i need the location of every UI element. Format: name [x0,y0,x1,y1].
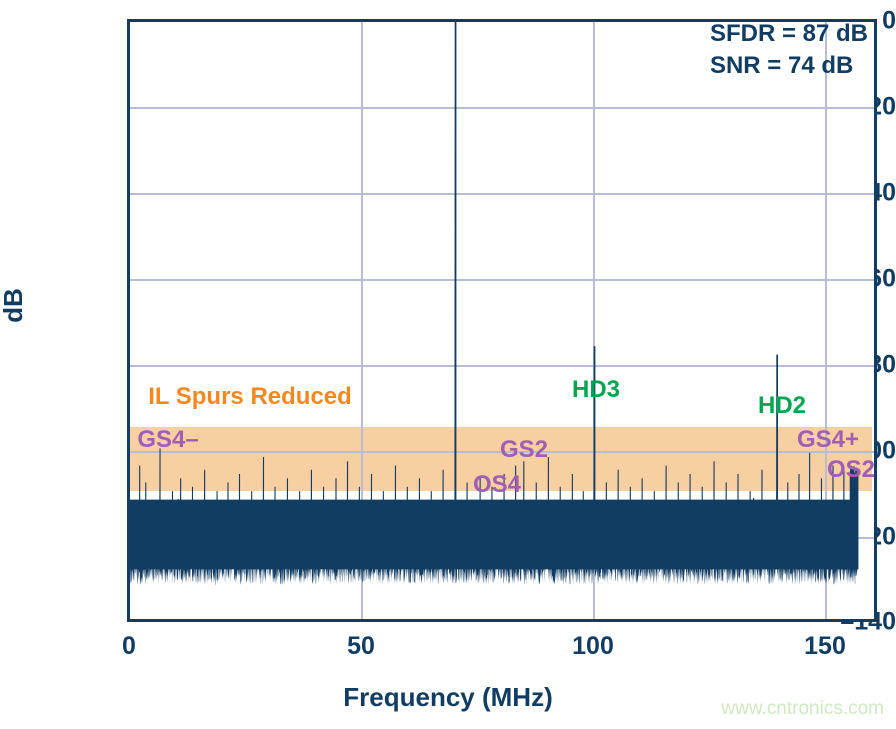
snr-value: SNR = 74 dB [710,50,868,82]
x-tick-50: 50 [316,632,406,661]
x-tick-0: 0 [84,632,174,661]
measurement-annotations: SFDR = 87 dB SNR = 74 dB [710,18,868,81]
annotation-gs2: GS2 [500,436,548,464]
plot-area [130,22,874,619]
chart-screenshot: dB 0 –20 –40 –60 –80 –100 –120 –140 0 50… [0,0,896,729]
annotation-gs4-minus: GS4– [137,426,198,454]
annotation-os4: OS4 [473,471,521,499]
annotation-os2: OS2 [827,456,875,484]
x-tick-150: 150 [780,632,870,661]
fft-trace [130,22,874,619]
sfdr-value: SFDR = 87 dB [710,18,868,50]
plot-frame [127,19,877,622]
x-tick-100: 100 [548,632,638,661]
annotation-hd2: HD2 [758,392,806,420]
watermark: www.cntronics.com [721,698,884,720]
annotation-hd3: HD3 [572,376,620,404]
annotation-il-spurs-reduced: IL Spurs Reduced [148,383,352,411]
y-axis-label: dB [0,288,29,323]
annotation-gs4-plus: GS4+ [797,426,859,454]
